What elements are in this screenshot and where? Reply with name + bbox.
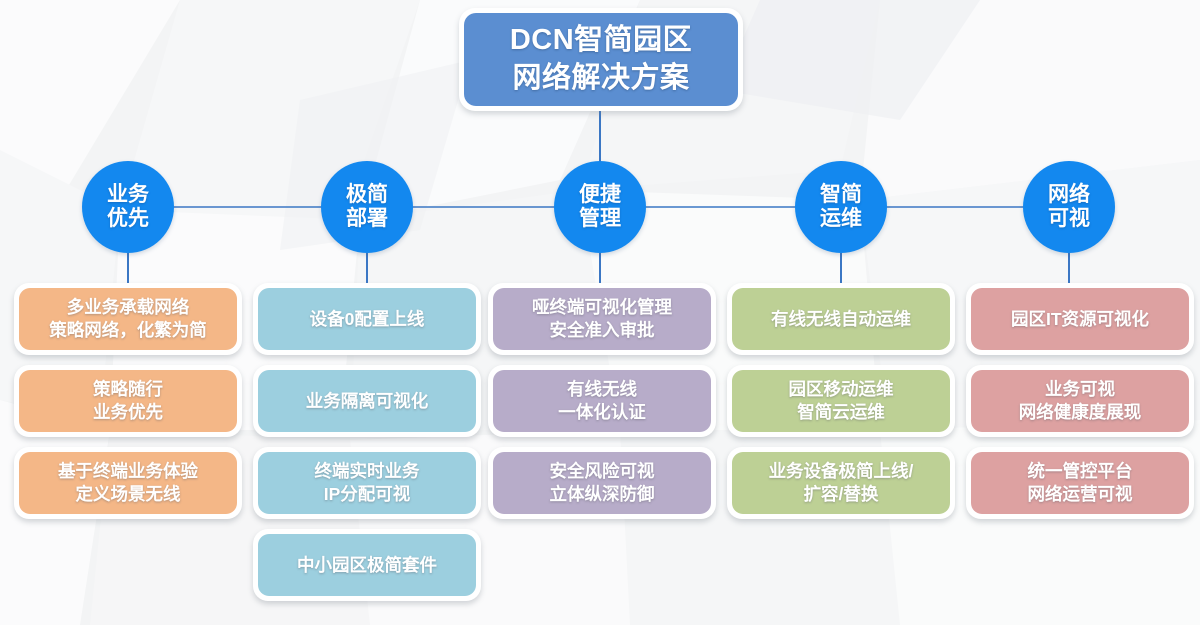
card[interactable]: 有线无线 一体化认证	[488, 365, 716, 437]
card-label: 基于终端业务体验 定义场景无线	[52, 460, 204, 506]
title-fill: DCN智简园区 网络解决方案	[464, 13, 738, 106]
page-title: DCN智简园区 网络解决方案	[510, 22, 692, 96]
solution-title-box: DCN智简园区 网络解决方案	[459, 8, 743, 111]
column-business-first: 多业务承载网络 策略网络，化繁为简 策略随行 业务优先 基于终端业务体验 定义场…	[14, 283, 242, 529]
node-label: 智简 运维	[820, 183, 862, 232]
card-label: 统一管控平台 网络运营可视	[1022, 460, 1139, 506]
card-label: 业务设备极简上线/ 扩容/替换	[763, 460, 920, 506]
node-network-visible[interactable]: 网络 可视	[1023, 161, 1115, 253]
card-label: 终端实时业务 IP分配可视	[309, 460, 426, 506]
card[interactable]: 业务隔离可视化	[253, 365, 481, 437]
card-body: 策略随行 业务优先	[19, 370, 237, 432]
card-label: 安全风险可视 立体纵深防御	[544, 460, 661, 506]
card[interactable]: 设备0配置上线	[253, 283, 481, 355]
card-body: 中小园区极简套件	[258, 534, 476, 596]
card-label: 园区IT资源可视化	[1005, 308, 1155, 331]
card[interactable]: 有线无线自动运维	[727, 283, 955, 355]
column-simple-deploy: 设备0配置上线 业务隔离可视化 终端实时业务 IP分配可视 中小园区极简套件	[253, 283, 481, 611]
card[interactable]: 哑终端可视化管理 安全准入审批	[488, 283, 716, 355]
card-body: 安全风险可视 立体纵深防御	[493, 452, 711, 514]
card-body: 业务隔离可视化	[258, 370, 476, 432]
card-body: 设备0配置上线	[258, 288, 476, 350]
card[interactable]: 业务设备极简上线/ 扩容/替换	[727, 447, 955, 519]
card[interactable]: 安全风险可视 立体纵深防御	[488, 447, 716, 519]
card[interactable]: 业务可视 网络健康度展现	[966, 365, 1194, 437]
card-body: 业务设备极简上线/ 扩容/替换	[732, 452, 950, 514]
card-body: 基于终端业务体验 定义场景无线	[19, 452, 237, 514]
node-label: 便捷 管理	[579, 183, 621, 232]
card-body: 园区IT资源可视化	[971, 288, 1189, 350]
card-label: 有线无线 一体化认证	[552, 378, 652, 424]
card[interactable]: 园区IT资源可视化	[966, 283, 1194, 355]
card-label: 业务隔离可视化	[300, 390, 435, 413]
card[interactable]: 终端实时业务 IP分配可视	[253, 447, 481, 519]
card-body: 哑终端可视化管理 安全准入审批	[493, 288, 711, 350]
card[interactable]: 园区移动运维 智简云运维	[727, 365, 955, 437]
card-body: 业务可视 网络健康度展现	[971, 370, 1189, 432]
card[interactable]: 多业务承载网络 策略网络，化繁为简	[14, 283, 242, 355]
column-smart-ops: 有线无线自动运维 园区移动运维 智简云运维 业务设备极简上线/ 扩容/替换	[727, 283, 955, 529]
card-label: 园区移动运维 智简云运维	[783, 378, 900, 424]
card-body: 园区移动运维 智简云运维	[732, 370, 950, 432]
card-label: 多业务承载网络 策略网络，化繁为简	[43, 296, 213, 342]
card-label: 设备0配置上线	[304, 308, 431, 331]
diagram-canvas: DCN智简园区 网络解决方案 业务 优先 极简 部署 便捷 管理 智简 运维 网…	[0, 0, 1200, 625]
card[interactable]: 中小园区极简套件	[253, 529, 481, 601]
card[interactable]: 基于终端业务体验 定义场景无线	[14, 447, 242, 519]
node-label: 极简 部署	[346, 183, 388, 232]
card[interactable]: 统一管控平台 网络运营可视	[966, 447, 1194, 519]
node-label: 业务 优先	[107, 183, 149, 232]
card-body: 统一管控平台 网络运营可视	[971, 452, 1189, 514]
card-label: 有线无线自动运维	[765, 308, 917, 331]
card-label: 策略随行 业务优先	[87, 378, 169, 424]
card-body: 有线无线 一体化认证	[493, 370, 711, 432]
card-body: 多业务承载网络 策略网络，化繁为简	[19, 288, 237, 350]
card[interactable]: 策略随行 业务优先	[14, 365, 242, 437]
card-label: 业务可视 网络健康度展现	[1013, 378, 1148, 424]
card-label: 哑终端可视化管理 安全准入审批	[526, 296, 678, 342]
node-business-first[interactable]: 业务 优先	[82, 161, 174, 253]
column-convenient-manage: 哑终端可视化管理 安全准入审批 有线无线 一体化认证 安全风险可视 立体纵深防御	[488, 283, 716, 529]
card-label: 中小园区极简套件	[291, 554, 443, 577]
node-simple-deploy[interactable]: 极简 部署	[321, 161, 413, 253]
node-convenient-manage[interactable]: 便捷 管理	[554, 161, 646, 253]
card-body: 终端实时业务 IP分配可视	[258, 452, 476, 514]
card-body: 有线无线自动运维	[732, 288, 950, 350]
column-network-visible: 园区IT资源可视化 业务可视 网络健康度展现 统一管控平台 网络运营可视	[966, 283, 1194, 529]
node-label: 网络 可视	[1048, 183, 1090, 232]
node-smart-ops[interactable]: 智简 运维	[795, 161, 887, 253]
